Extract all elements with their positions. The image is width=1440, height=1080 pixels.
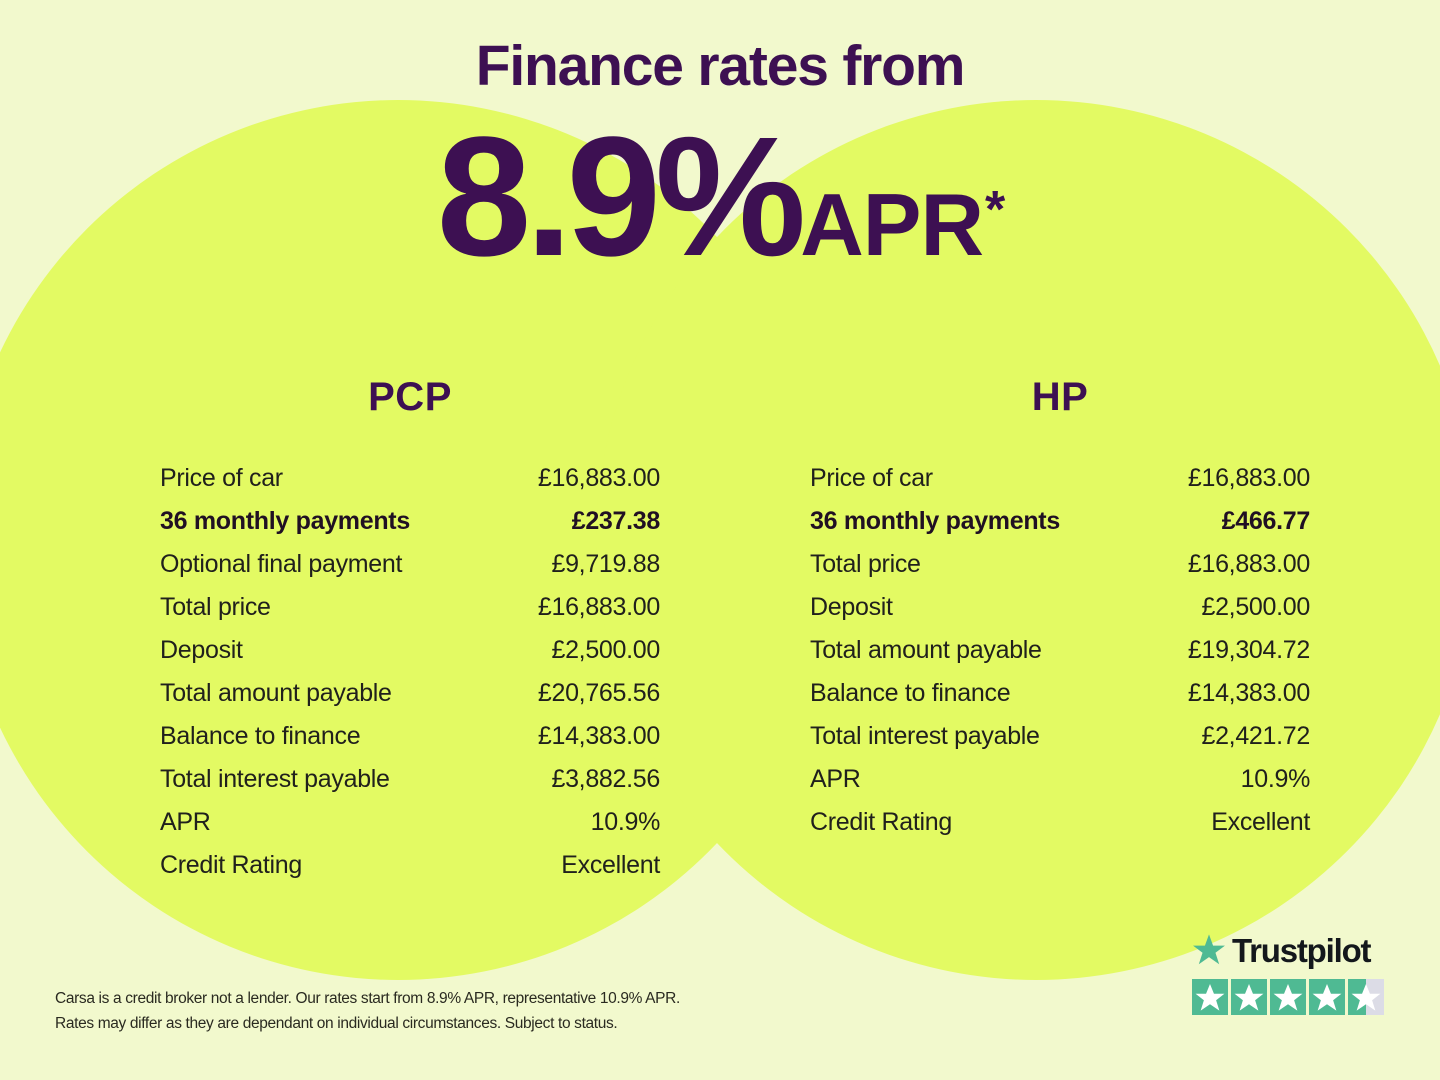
row-label: Price of car [160, 464, 283, 493]
row-value: £16,883.00 [1188, 550, 1310, 579]
row-value: £2,421.72 [1201, 722, 1310, 751]
hero-apr-label: APR [800, 175, 983, 274]
row-label: Total interest payable [160, 765, 390, 794]
table-row: Total price£16,883.00 [810, 550, 1310, 593]
trustpilot-wordmark: Trustpilot [1192, 930, 1392, 970]
table-row: Credit RatingExcellent [810, 808, 1310, 851]
finance-rates-graphic: Finance rates from 8.9%APR* PCP Price of… [0, 0, 1440, 1080]
row-value: £3,882.56 [551, 765, 660, 794]
row-label: Balance to finance [810, 679, 1010, 708]
row-value: £237.38 [572, 507, 660, 536]
row-label: Total amount payable [810, 636, 1042, 665]
trustpilot-name: Trustpilot [1232, 934, 1370, 967]
trustpilot-badge: Trustpilot [1192, 930, 1392, 1015]
row-label: Total amount payable [160, 679, 392, 708]
trustpilot-full-star-icon [1231, 979, 1267, 1015]
row-value: £9,719.88 [551, 550, 660, 579]
table-row: Price of car£16,883.00 [160, 464, 660, 507]
row-value: Excellent [1211, 808, 1310, 837]
plan-column-pcp: PCP Price of car£16,883.0036 monthly pay… [160, 375, 660, 894]
table-row: Price of car£16,883.00 [810, 464, 1310, 507]
page-title: Finance rates from [0, 38, 1440, 95]
disclaimer-line-1: Carsa is a credit broker not a lender. O… [55, 986, 815, 1011]
row-value: £16,883.00 [538, 464, 660, 493]
table-row: Optional final payment£9,719.88 [160, 550, 660, 593]
trustpilot-half-star-icon [1348, 979, 1384, 1015]
row-value: £14,383.00 [538, 722, 660, 751]
trustpilot-full-star-icon [1270, 979, 1306, 1015]
plan-title-pcp: PCP [160, 375, 660, 420]
table-row: Balance to finance£14,383.00 [810, 679, 1310, 722]
table-row: Credit RatingExcellent [160, 851, 660, 894]
row-label: Total price [810, 550, 921, 579]
hero-rate: 8.9%APR* [0, 112, 1440, 282]
row-label: Total price [160, 593, 271, 622]
row-value: £16,883.00 [538, 593, 660, 622]
row-label: Optional final payment [160, 550, 402, 579]
row-value: £19,304.72 [1188, 636, 1310, 665]
table-row: 36 monthly payments£237.38 [160, 507, 660, 550]
row-label: Credit Rating [160, 851, 302, 880]
table-row: APR10.9% [810, 765, 1310, 808]
table-row: Deposit£2,500.00 [160, 636, 660, 679]
plan-rows-hp: Price of car£16,883.0036 monthly payment… [810, 464, 1310, 851]
row-value: £466.77 [1222, 507, 1310, 536]
hero-rate-value: 8.9% [437, 102, 800, 292]
row-value: £20,765.56 [538, 679, 660, 708]
legal-disclaimer: Carsa is a credit broker not a lender. O… [55, 986, 815, 1036]
trustpilot-star-rating [1192, 979, 1392, 1015]
disclaimer-line-2: Rates may differ as they are dependant o… [55, 1011, 815, 1036]
table-row: Total interest payable£3,882.56 [160, 765, 660, 808]
plan-rows-pcp: Price of car£16,883.0036 monthly payment… [160, 464, 660, 894]
row-value: £16,883.00 [1188, 464, 1310, 493]
row-value: £2,500.00 [551, 636, 660, 665]
plan-column-hp: HP Price of car£16,883.0036 monthly paym… [810, 375, 1310, 851]
row-value: Excellent [561, 851, 660, 880]
plan-title-hp: HP [810, 375, 1310, 420]
trustpilot-full-star-icon [1192, 979, 1228, 1015]
row-label: Credit Rating [810, 808, 952, 837]
row-label: 36 monthly payments [160, 507, 410, 536]
row-label: 36 monthly payments [810, 507, 1060, 536]
row-value: £2,500.00 [1201, 593, 1310, 622]
table-row: 36 monthly payments£466.77 [810, 507, 1310, 550]
row-label: Deposit [810, 593, 893, 622]
row-label: Balance to finance [160, 722, 360, 751]
trustpilot-star-icon [1192, 933, 1226, 967]
hero-asterisk-icon: * [985, 181, 1005, 239]
table-row: Total amount payable£19,304.72 [810, 636, 1310, 679]
row-label: APR [810, 765, 861, 794]
row-value: 10.9% [1241, 765, 1310, 794]
table-row: Total interest payable£2,421.72 [810, 722, 1310, 765]
row-value: £14,383.00 [1188, 679, 1310, 708]
row-value: 10.9% [591, 808, 660, 837]
table-row: APR10.9% [160, 808, 660, 851]
row-label: Deposit [160, 636, 243, 665]
table-row: Total price£16,883.00 [160, 593, 660, 636]
row-label: APR [160, 808, 211, 837]
row-label: Total interest payable [810, 722, 1040, 751]
row-label: Price of car [810, 464, 933, 493]
table-row: Balance to finance£14,383.00 [160, 722, 660, 765]
table-row: Deposit£2,500.00 [810, 593, 1310, 636]
trustpilot-full-star-icon [1309, 979, 1345, 1015]
table-row: Total amount payable£20,765.56 [160, 679, 660, 722]
